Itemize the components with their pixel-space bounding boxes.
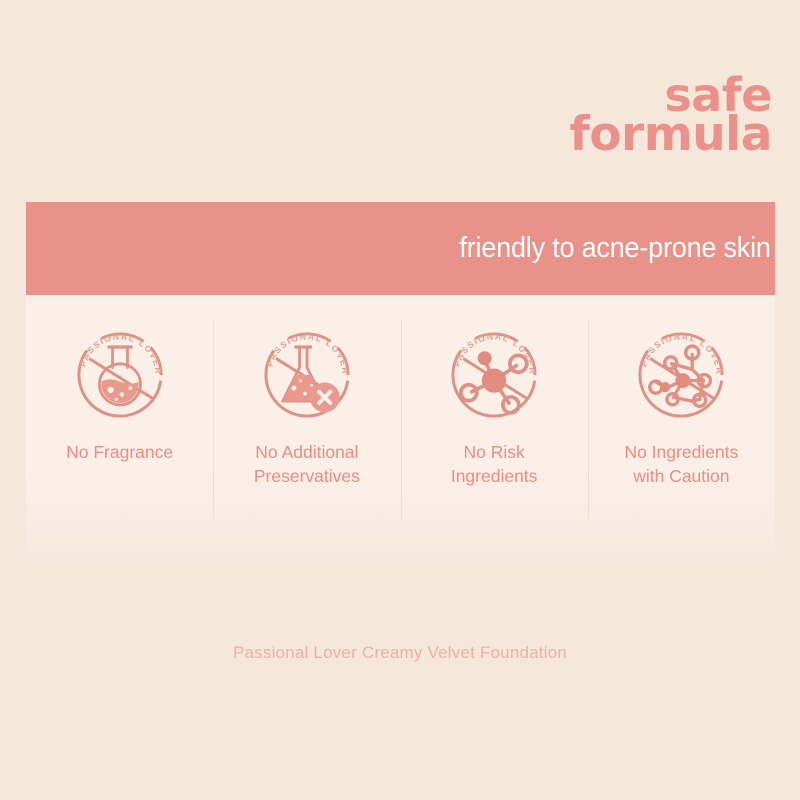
feature-item-no-risk-ingredients: PASSIONAL LOVER No Risk Ingredients <box>401 295 588 488</box>
safe-formula-panel: friendly to acne-prone skin <box>26 202 775 572</box>
stamp-text: PASSIONAL LOVER <box>77 331 163 375</box>
page-title: safe formula <box>569 74 772 156</box>
feature-item-no-ingredients-with-caution: PASSIONAL LOVER No Ingredients with Caut… <box>588 295 775 488</box>
no-risk-ingredients-molecule-icon: PASSIONAL LOVER <box>438 319 550 431</box>
feature-label: No Fragrance <box>66 441 173 465</box>
feature-label: No Additional Preservatives <box>254 441 360 488</box>
product-caption: Passional Lover Creamy Velvet Foundation <box>0 643 800 663</box>
feature-item-no-additional-preservatives: PASSIONAL LOVER No Additional Preservati… <box>213 295 400 488</box>
panel-header-bar: friendly to acne-prone skin <box>26 202 775 295</box>
feature-label: No Risk Ingredients <box>451 441 538 488</box>
feature-item-no-fragrance: PASSIONAL LOVER No Fragrance <box>26 295 213 488</box>
feature-label: No Ingredients with Caution <box>624 441 738 488</box>
stamp-text: PASSIONAL LOVER <box>639 331 725 375</box>
panel-headline: friendly to acne-prone skin <box>460 232 771 265</box>
page-title-line-2: formula <box>569 113 772 157</box>
no-additional-preservatives-flask-x-icon: PASSIONAL LOVER <box>251 319 363 431</box>
no-fragrance-flask-icon: PASSIONAL LOVER <box>64 319 176 431</box>
no-ingredients-with-caution-molecule-chain-icon: PASSIONAL LOVER <box>625 319 737 431</box>
feature-grid: PASSIONAL LOVER No Fragrance <box>26 295 775 488</box>
